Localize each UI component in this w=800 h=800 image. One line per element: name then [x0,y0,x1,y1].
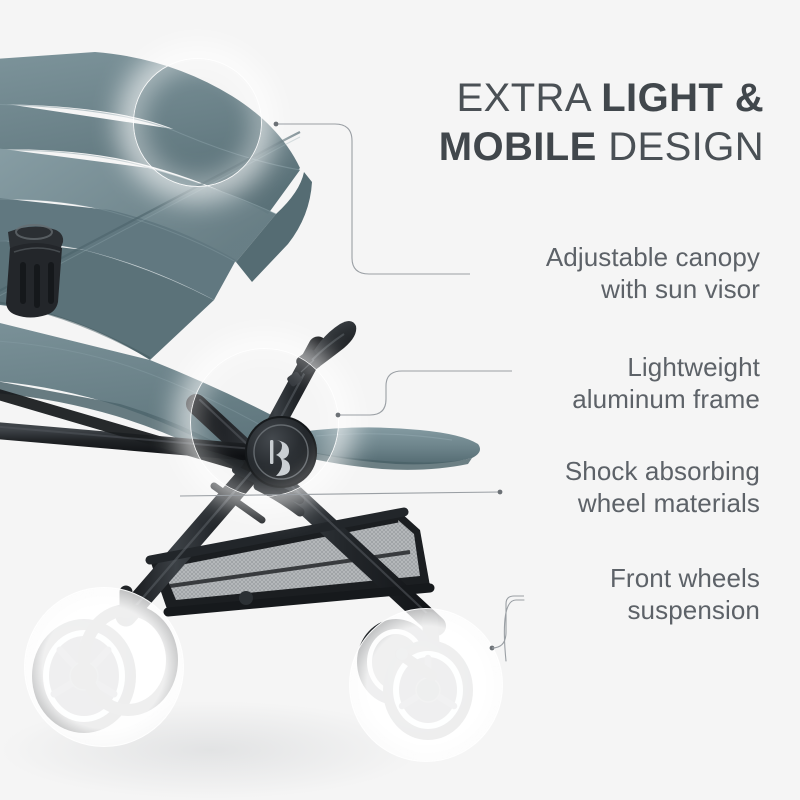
front-wheels [357,619,473,740]
headline-extra: EXTRA [457,76,602,120]
feature-line-1: Shock absorbing [320,455,760,487]
headline-mobile: MOBILE [439,125,597,169]
feature-line-2: suspension [320,594,760,626]
cup-holder [6,225,63,318]
feature-line-1: Lightweight [320,351,760,383]
feature-line-2: aluminum frame [320,383,760,415]
feature-line-2: with sun visor [320,273,760,305]
headline-light-and: LIGHT & [601,76,764,120]
infographic-canvas: EXTRA LIGHT & MOBILE DESIGN Adjustable c… [0,0,800,800]
feature-label-front-suspension: Front wheels suspension [320,562,760,626]
feature-label-adjustable-canopy: Adjustable canopy with sun visor [320,241,760,305]
feature-line-2: wheel materials [320,487,760,519]
headline-line-1: EXTRA LIGHT & [360,74,764,123]
feature-label-aluminum-frame: Lightweight aluminum frame [320,351,760,415]
feature-line-1: Front wheels [320,562,760,594]
feature-label-wheel-materials: Shock absorbing wheel materials [320,455,760,519]
headline-design: DESIGN [597,125,764,169]
feature-line-1: Adjustable canopy [320,241,760,273]
headline-line-2: MOBILE DESIGN [360,123,764,172]
page-title: EXTRA LIGHT & MOBILE DESIGN [360,74,764,172]
rear-wheel [32,592,172,733]
